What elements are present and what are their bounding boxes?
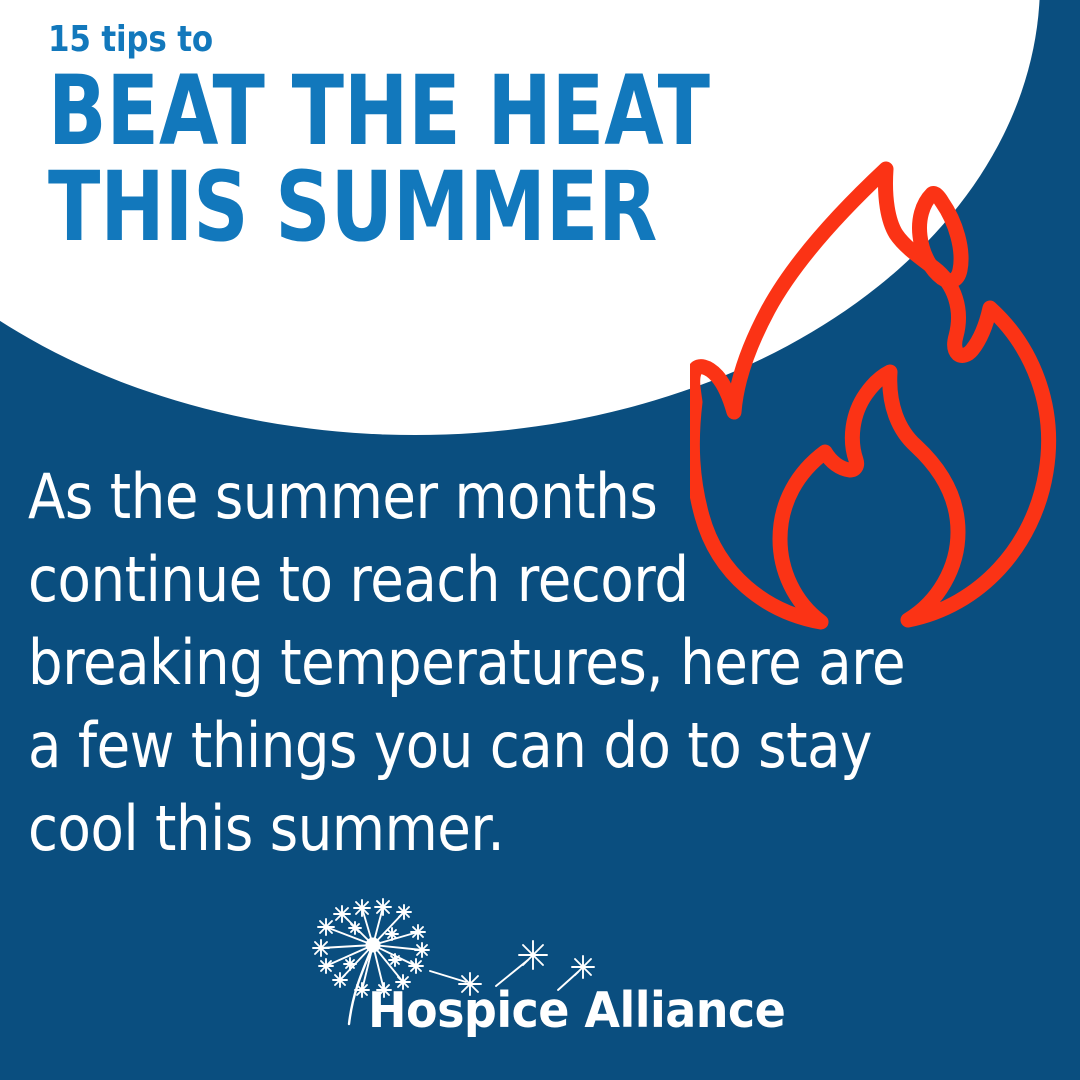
body-line: breaking temperatures, here are — [28, 621, 846, 704]
body-copy: As the summer months continue to reach r… — [28, 455, 958, 870]
header-block: 15 tips to BEAT THE HEAT THIS SUMMER — [48, 22, 848, 254]
body-line: cool this summer. — [28, 787, 846, 870]
body-line: As the summer months — [28, 455, 846, 538]
logo-wordmark: Hospice Alliance — [368, 986, 785, 1035]
eyebrow-text: 15 tips to — [48, 22, 736, 58]
body-line: continue to reach record — [28, 538, 846, 621]
poster-canvas: 15 tips to BEAT THE HEAT THIS SUMMER As … — [0, 0, 1080, 1080]
body-line: a few things you can do to stay — [28, 704, 846, 787]
headline-line-2: THIS SUMMER — [48, 160, 688, 254]
headline-line-1: BEAT THE HEAT — [48, 64, 688, 158]
logo-lockup: Hospice Alliance — [300, 898, 780, 1053]
